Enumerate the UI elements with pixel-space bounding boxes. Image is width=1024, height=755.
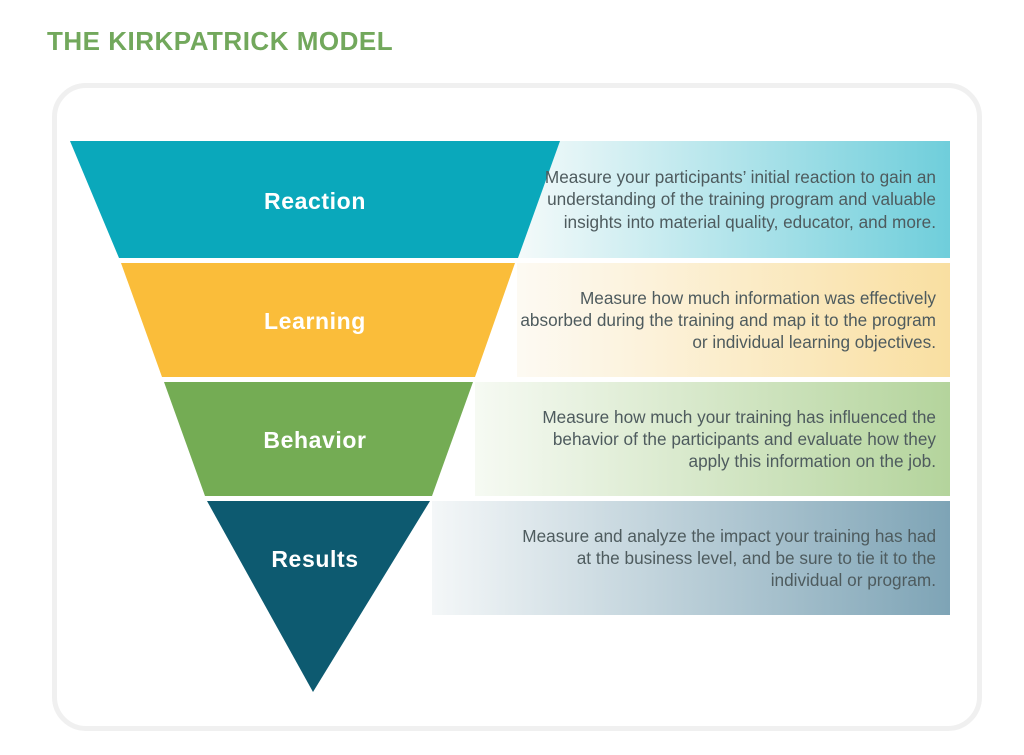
funnel-label-reaction: Reaction	[225, 188, 405, 215]
description-container-learning: Measure how much information was effecti…	[520, 263, 950, 377]
description-container-reaction: Measure your participants’ initial react…	[520, 141, 950, 258]
description-container-behavior: Measure how much your training has influ…	[505, 382, 950, 496]
description-text-results: Measure and analyze the impact your trai…	[520, 525, 950, 591]
description-container-results: Measure and analyze the impact your trai…	[485, 501, 950, 615]
page-title: THE KIRKPATRICK MODEL	[47, 26, 393, 57]
funnel-label-results: Results	[225, 546, 405, 573]
funnel-label-learning: Learning	[225, 308, 405, 335]
description-text-reaction: Measure your participants’ initial react…	[520, 166, 950, 232]
description-text-behavior: Measure how much your training has influ…	[520, 406, 950, 472]
funnel-label-behavior: Behavior	[225, 427, 405, 454]
description-text-learning: Measure how much information was effecti…	[520, 287, 950, 353]
